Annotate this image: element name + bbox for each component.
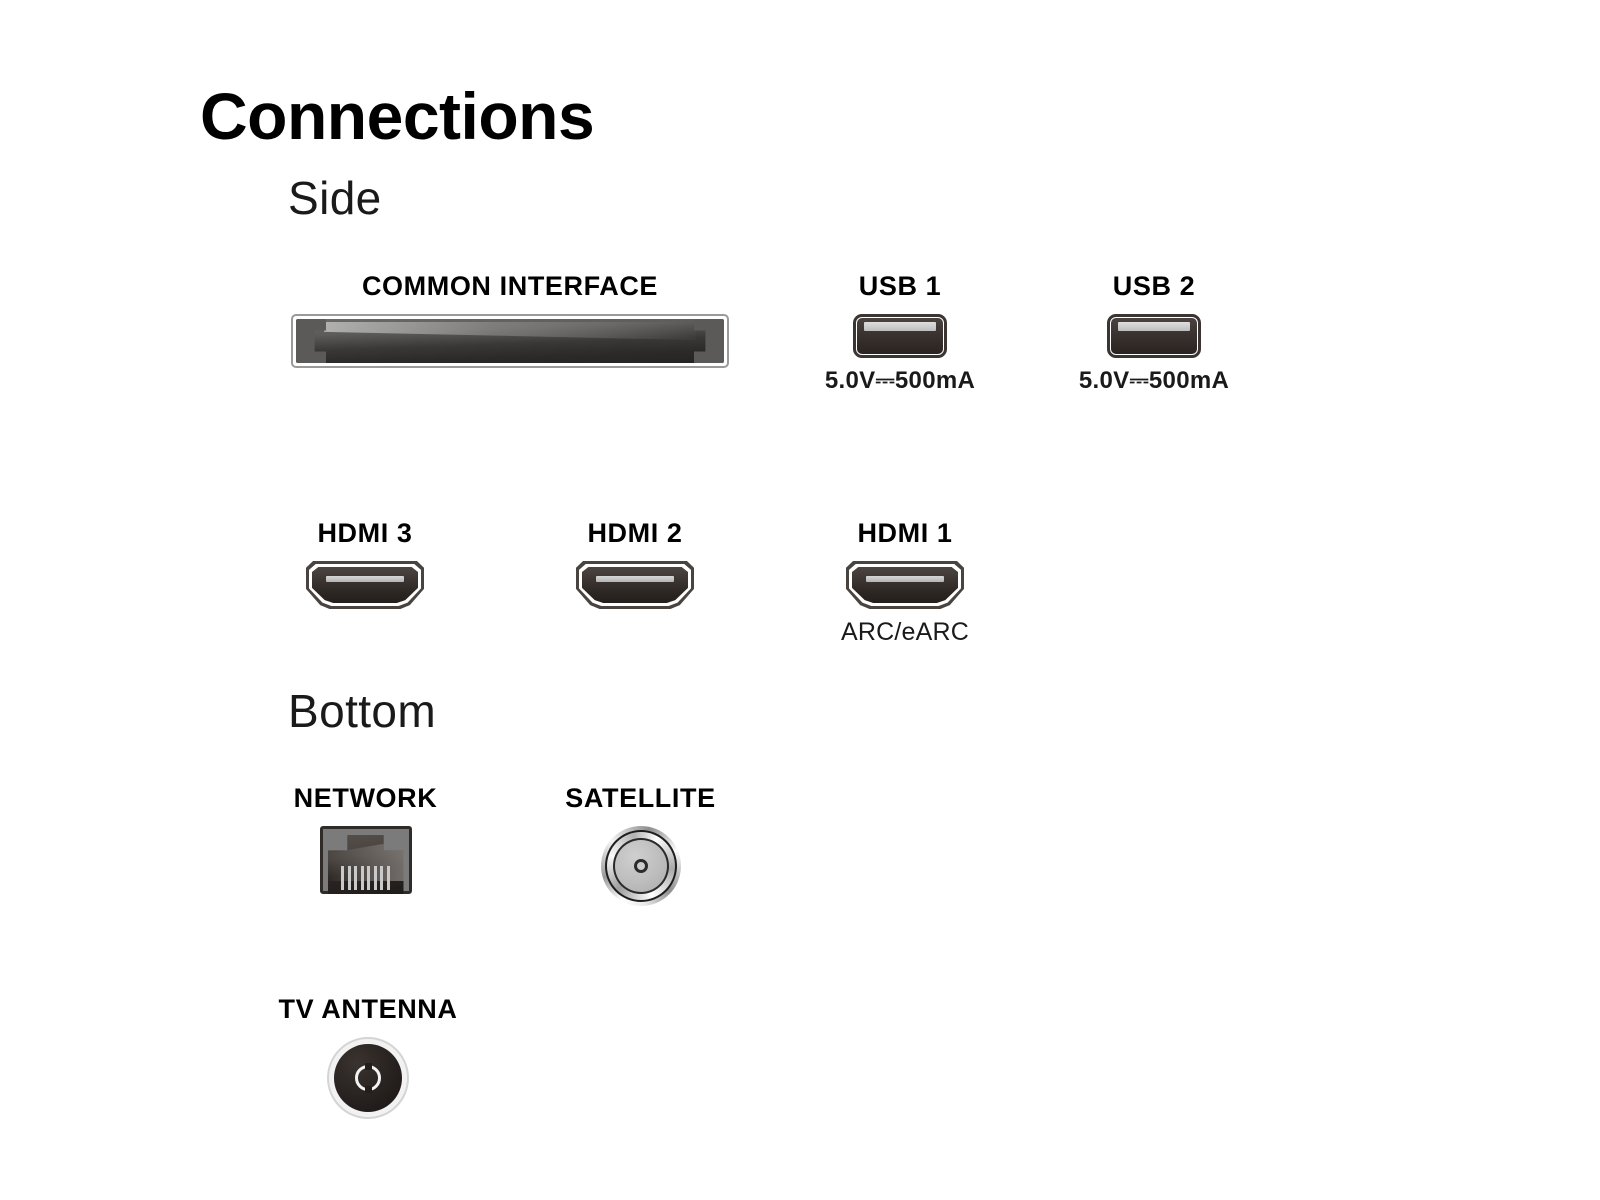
usb-port-icon	[853, 314, 947, 358]
port-label-network: NETWORK	[294, 785, 438, 812]
port-hdmi-3[interactable]: HDMI 3	[295, 520, 435, 609]
page-title: Connections	[200, 82, 594, 151]
port-sublabel-usb-1-power: 5.0V⎓500mA	[825, 369, 975, 393]
port-network[interactable]: NETWORK	[283, 785, 448, 894]
port-label-satellite: SATELLITE	[565, 785, 715, 812]
port-usb-2[interactable]: USB 2 5.0V⎓500mA	[1078, 273, 1230, 393]
port-label-usb-1: USB 1	[859, 273, 942, 300]
hdmi-port-icon	[846, 561, 964, 609]
port-label-tv-antenna: TV ANTENNA	[279, 996, 458, 1023]
port-satellite[interactable]: SATELLITE	[558, 785, 723, 906]
ethernet-rj45-port-icon	[320, 826, 412, 894]
coax-antenna-connector-icon	[327, 1037, 409, 1119]
section-heading-side: Side	[288, 175, 382, 221]
port-label-usb-2: USB 2	[1113, 273, 1196, 300]
port-hdmi-1[interactable]: HDMI 1 ARC/eARC	[835, 520, 975, 645]
hdmi-port-icon	[576, 561, 694, 609]
hdmi-port-icon	[306, 561, 424, 609]
satellite-f-connector-icon	[601, 826, 681, 906]
common-interface-slot-icon	[291, 314, 729, 368]
port-tv-antenna[interactable]: TV ANTENNA	[263, 996, 473, 1119]
port-usb-1[interactable]: USB 1 5.0V⎓500mA	[824, 273, 976, 393]
port-label-common-interface: COMMON INTERFACE	[362, 273, 658, 300]
port-sublabel-hdmi-1-arc: ARC/eARC	[841, 620, 969, 645]
port-common-interface[interactable]: COMMON INTERFACE	[290, 273, 730, 368]
port-sublabel-usb-2-power: 5.0V⎓500mA	[1079, 369, 1229, 393]
port-hdmi-2[interactable]: HDMI 2	[565, 520, 705, 609]
section-heading-bottom: Bottom	[288, 688, 436, 734]
port-label-hdmi-1: HDMI 1	[857, 520, 952, 547]
port-label-hdmi-2: HDMI 2	[587, 520, 682, 547]
port-label-hdmi-3: HDMI 3	[317, 520, 412, 547]
usb-port-icon	[1107, 314, 1201, 358]
